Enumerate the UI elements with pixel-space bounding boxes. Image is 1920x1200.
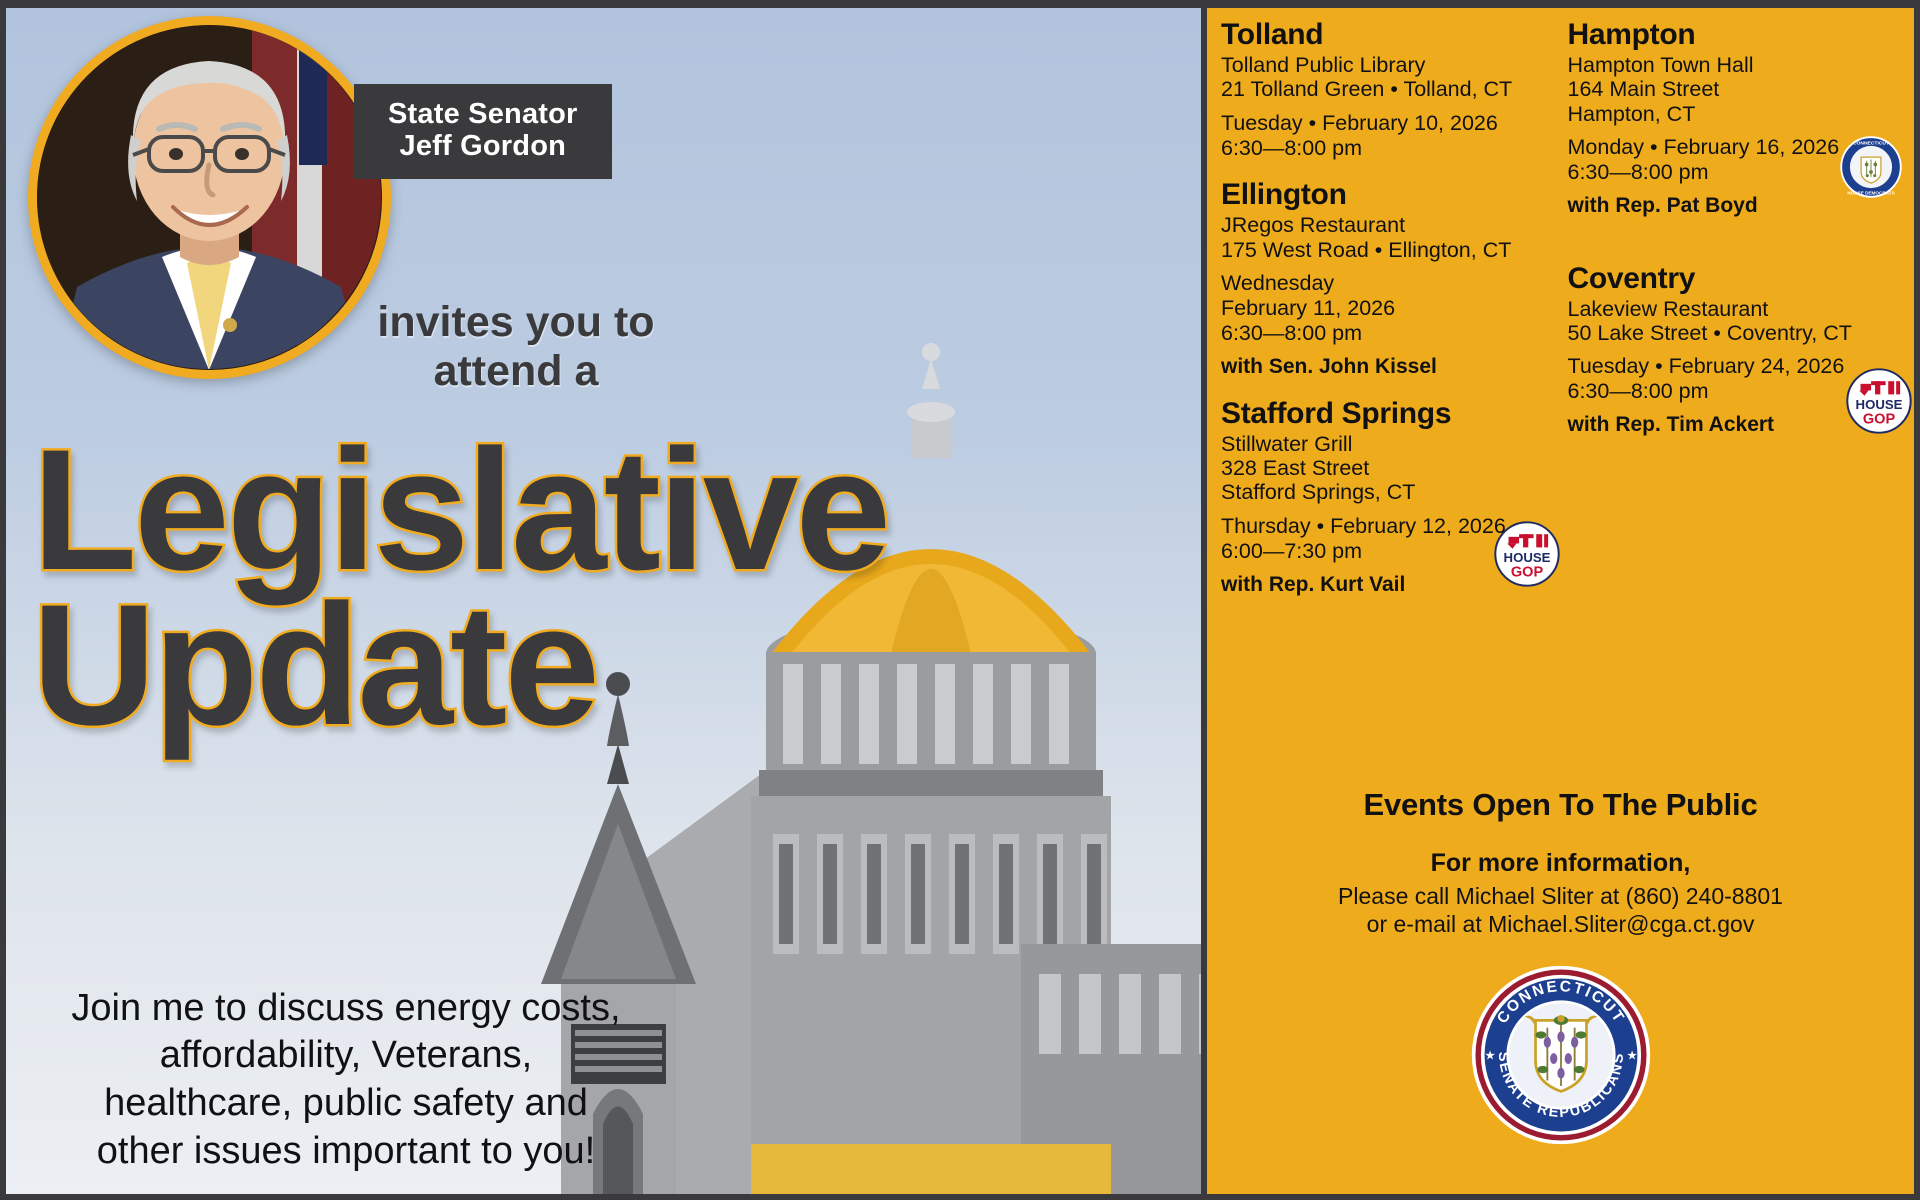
dem-logo-bottom: HOUSE DEMOCRATS: [1847, 190, 1894, 195]
event-venue: Lakeview Restaurant 50 Lake Street • Cov…: [1568, 297, 1901, 346]
contact-details: Please call Michael Sliter at (860) 240-…: [1221, 882, 1900, 938]
ct-senate-republicans-seal-icon: CONNECTICUT SENATE REPUBLICANS ★ ★: [1470, 964, 1652, 1146]
page-title-headline: Legislative Update: [32, 433, 888, 743]
svg-text:GOP: GOP: [1863, 411, 1896, 427]
event-datetime: Wednesday February 11, 2026 6:30—8:00 pm: [1221, 271, 1554, 346]
event-datetime: Tuesday • February 10, 2026 6:30—8:00 pm: [1221, 111, 1554, 161]
svg-text:HOUSE: HOUSE: [1856, 397, 1903, 412]
event-cohost: with Sen. John Kissel: [1221, 355, 1554, 379]
poster-root: State Senator Jeff Gordon invites you to…: [0, 0, 1920, 1200]
event-venue: Tolland Public Library 21 Tolland Green …: [1221, 53, 1554, 102]
seal-star-left: ★: [1484, 1047, 1495, 1062]
more-info-heading: For more information,: [1221, 849, 1900, 878]
event-item: Coventry Lakeview Restaurant 50 Lake Str…: [1568, 262, 1901, 437]
events-panel: Tolland Tolland Public Library 21 Tollan…: [1207, 8, 1914, 1194]
event-venue: Stillwater Grill 328 East Street Staffor…: [1221, 432, 1554, 505]
event-town: Coventry: [1568, 262, 1901, 296]
ct-house-democrats-logo-icon: CONNECTICUT HOUSE DEMOCRATS: [1840, 136, 1902, 198]
senate-republicans-seal-container: CONNECTICUT SENATE REPUBLICANS ★ ★: [1221, 964, 1900, 1146]
ct-house-gop-logo-icon: HOUSE GOP: [1494, 521, 1560, 587]
ct-house-gop-logo-icon: HOUSE GOP: [1846, 368, 1912, 434]
event-town: Tolland: [1221, 18, 1554, 52]
public-notice: Events Open To The Public: [1221, 787, 1900, 823]
event-item: Hampton Hampton Town Hall 164 Main Stree…: [1568, 18, 1901, 218]
events-columns: Tolland Tolland Public Library 21 Tollan…: [1221, 18, 1900, 615]
event-item: Ellington JRegos Restaurant 175 West Roa…: [1221, 178, 1554, 378]
events-column-right: Hampton Hampton Town Hall 164 Main Stree…: [1568, 18, 1901, 615]
tagline-text: Join me to discuss energy costs, afforda…: [36, 985, 656, 1177]
event-town: Stafford Springs: [1221, 397, 1554, 431]
left-panel: State Senator Jeff Gordon invites you to…: [6, 8, 1201, 1194]
events-column-left: Tolland Tolland Public Library 21 Tollan…: [1221, 18, 1554, 615]
event-venue: Hampton Town Hall 164 Main Street Hampto…: [1568, 53, 1901, 126]
event-item: Tolland Tolland Public Library 21 Tollan…: [1221, 18, 1554, 160]
invitation-line: invites you to attend a: [256, 298, 776, 397]
senator-name-badge: State Senator Jeff Gordon: [354, 84, 612, 179]
event-item: Stafford Springs Stillwater Grill 328 Ea…: [1221, 397, 1554, 597]
gop-logo-line3: GOP: [1510, 564, 1543, 580]
gop-logo-line2: HOUSE: [1503, 550, 1550, 565]
event-town: Ellington: [1221, 178, 1554, 212]
event-venue: JRegos Restaurant 175 West Road • Elling…: [1221, 213, 1554, 262]
dem-logo-top: CONNECTICUT: [1853, 141, 1889, 147]
seal-star-right: ★: [1626, 1047, 1637, 1062]
event-town: Hampton: [1568, 18, 1901, 52]
